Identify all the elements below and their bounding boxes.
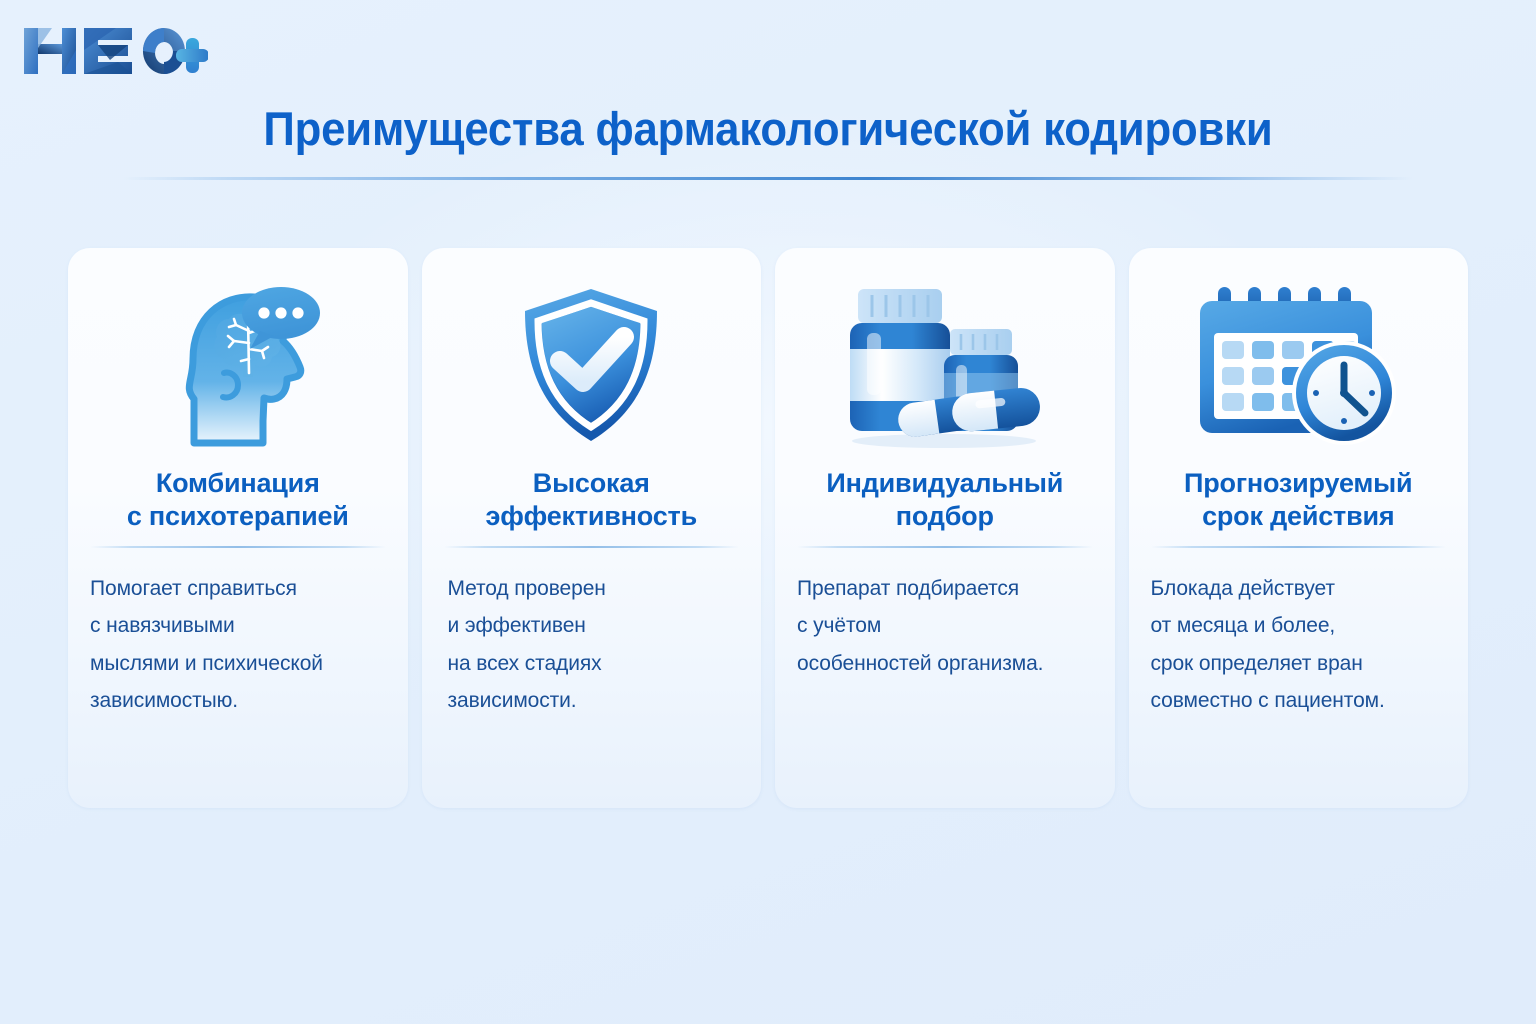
title-block: Преимущества фармакологической кодировки (0, 104, 1536, 180)
neo-plus-logo[interactable] (18, 20, 208, 82)
card-divider (90, 546, 386, 548)
card-title: Комбинация с психотерапией (127, 464, 349, 536)
card-body: Блокада действует от месяца и более, сро… (1151, 570, 1447, 720)
clock-icon (1292, 341, 1396, 445)
calendar-clock-icon (1190, 281, 1406, 453)
benefit-card-effectiveness[interactable]: Высокая эффективность Метод проверен и э… (422, 248, 762, 808)
benefit-card-psychotherapy[interactable]: Комбинация с психотерапией Помогает спра… (68, 248, 408, 808)
card-icon-slot (797, 274, 1093, 460)
card-divider (797, 546, 1093, 548)
card-title: Индивидуальный подбор (826, 464, 1063, 536)
card-icon-slot (1151, 274, 1447, 460)
benefit-card-predictable-duration[interactable]: Прогнозируемый срок действия Блокада дей… (1129, 248, 1469, 808)
card-icon-slot (444, 274, 740, 460)
head-brain-speech-bubble-icon (150, 281, 325, 453)
card-body: Препарат подбирается с учётом особенност… (797, 570, 1093, 682)
pill-bottles-capsules-icon (836, 281, 1054, 453)
card-title: Прогнозируемый срок действия (1184, 464, 1412, 536)
benefit-card-individual-selection[interactable]: Индивидуальный подбор Препарат подбирает… (775, 248, 1115, 808)
card-divider (1151, 546, 1447, 548)
card-title: Высокая эффективность (486, 464, 697, 536)
shield-check-icon (511, 281, 671, 453)
logo-svg (18, 20, 208, 82)
logo-letter-en (24, 28, 76, 74)
page-title: Преимущества фармакологической кодировки (54, 104, 1482, 155)
logo-letter-ye (84, 28, 132, 74)
card-body: Помогает справиться с навязчивыми мыслям… (90, 570, 386, 720)
benefit-cards-row: Комбинация с психотерапией Помогает спра… (68, 248, 1468, 808)
title-divider (123, 177, 1413, 180)
card-body: Метод проверен и эффективен на всех стад… (444, 570, 740, 720)
card-icon-slot (90, 274, 386, 460)
card-divider (444, 546, 740, 548)
